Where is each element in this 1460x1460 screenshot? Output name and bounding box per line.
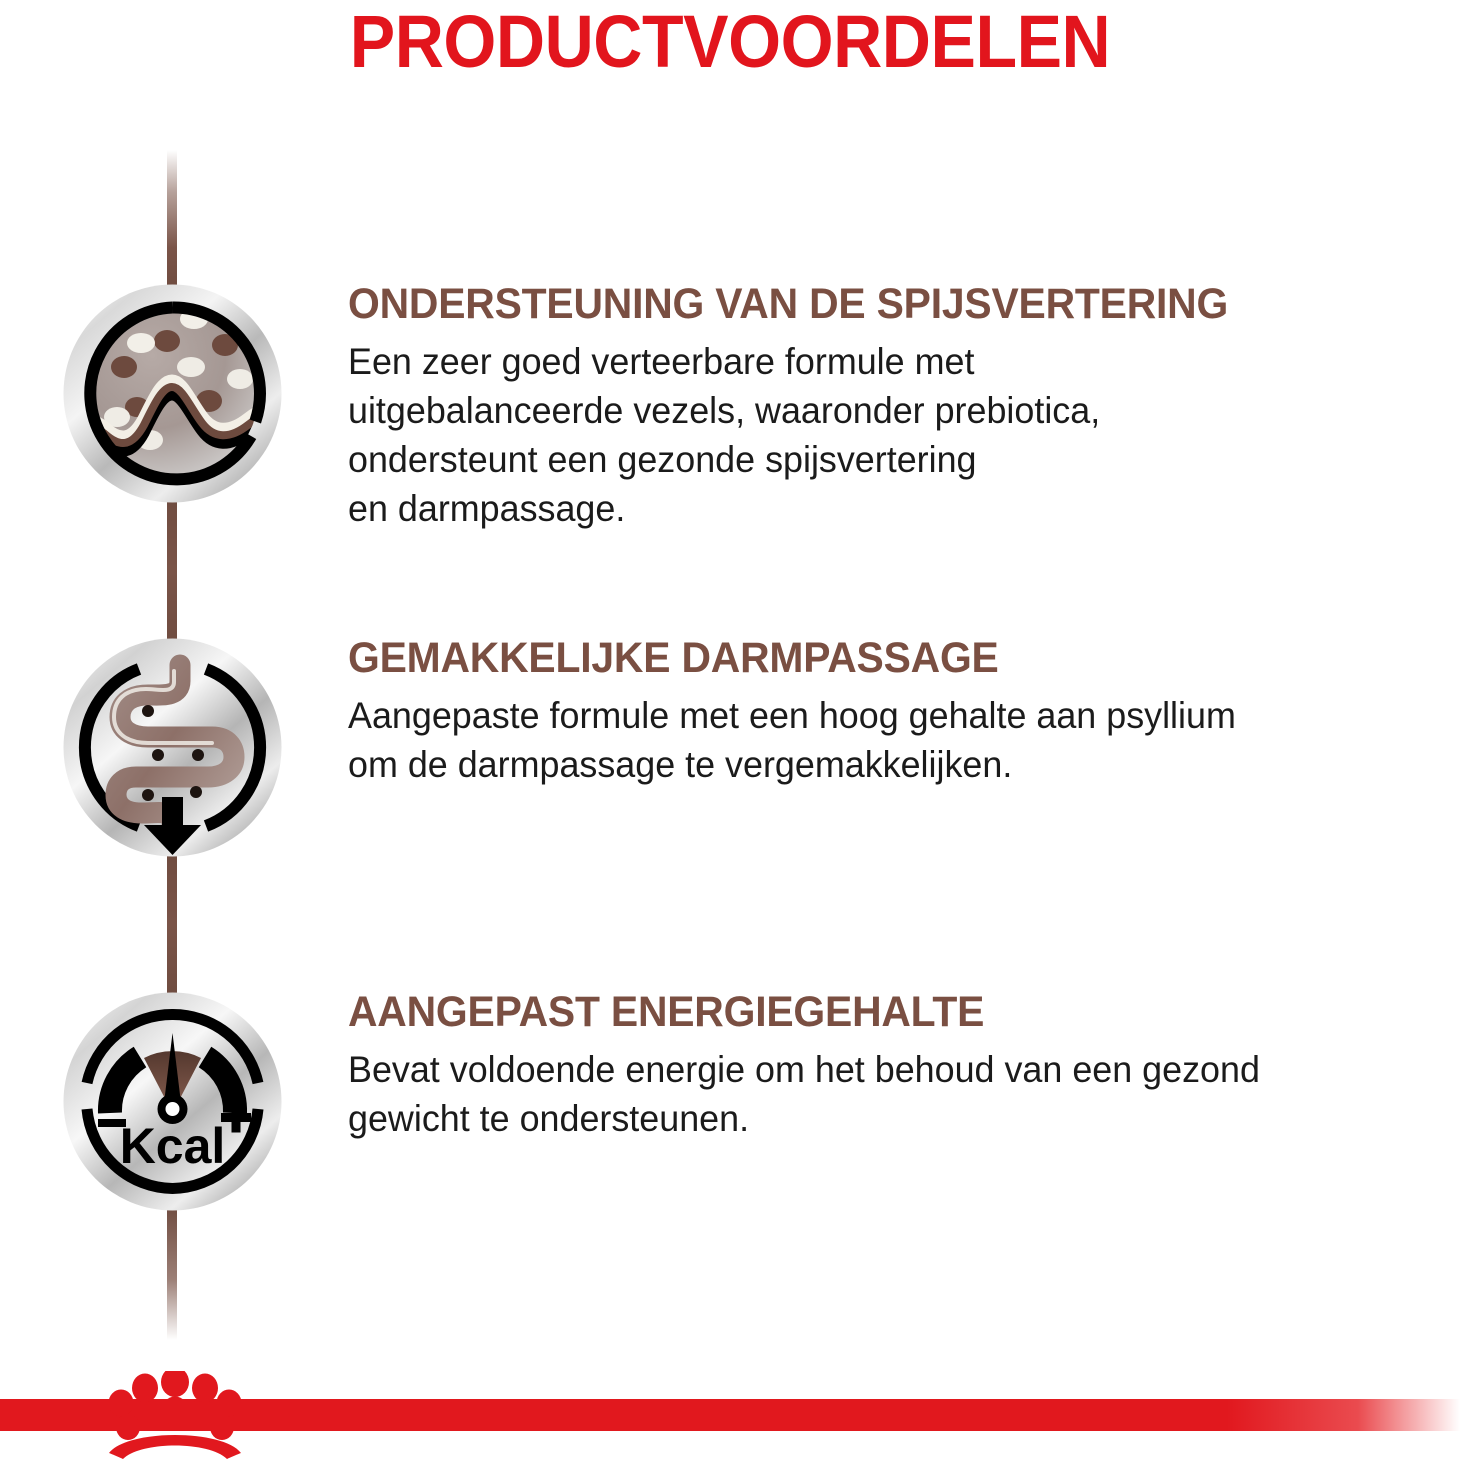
benefit-item-digestion: ONDERSTEUNING VAN DE SPIJSVERTERING Een …	[0, 280, 1460, 510]
page-title: PRODUCTVOORDELEN	[58, 2, 1401, 82]
benefit-body-line: om de darmpassage te vergemakkelijken.	[348, 740, 1444, 789]
benefit-body-line: Aangepaste formule met een hoog gehalte …	[348, 691, 1444, 740]
benefit-body: Een zeer goed verteerbare formule met ui…	[348, 337, 1444, 533]
benefit-heading: ONDERSTEUNING VAN DE SPIJSVERTERING	[348, 280, 1422, 329]
benefit-body: Aangepaste formule met een hoog gehalte …	[348, 691, 1444, 789]
intestine-transit-arrow-icon	[62, 637, 283, 858]
connector-rail-bottom	[167, 1205, 177, 1340]
benefit-heading: GEMAKKELIJKE DARMPASSAGE	[348, 634, 1422, 683]
royal-canin-crown-logo	[95, 1371, 255, 1460]
benefit-body-line: en darmpassage.	[348, 484, 1444, 533]
benefit-body-line: Een zeer goed verteerbare formule met	[348, 337, 1444, 386]
benefit-body-line: uitgebalanceerde vezels, waaronder prebi…	[348, 386, 1444, 435]
connector-rail-between-1-2	[167, 496, 177, 644]
kcal-gauge-icon: Kcal	[62, 991, 283, 1212]
digestion-dots-wave-icon	[62, 283, 283, 504]
benefit-body-line: Bevat voldoende energie om het behoud va…	[348, 1045, 1444, 1094]
benefit-text-digestion: ONDERSTEUNING VAN DE SPIJSVERTERING Een …	[348, 280, 1460, 533]
benefit-body-line: gewicht te ondersteunen.	[348, 1094, 1444, 1143]
connector-rail-top	[167, 150, 177, 290]
benefit-item-energy: Kcal AANGEPAST ENERGIEGEHALTE Bevat vold…	[0, 988, 1460, 1218]
benefit-text-transit: GEMAKKELIJKE DARMPASSAGE Aangepaste form…	[348, 634, 1460, 789]
benefit-text-energy: AANGEPAST ENERGIEGEHALTE Bevat voldoende…	[348, 988, 1460, 1143]
connector-rail-between-2-3	[167, 850, 177, 998]
benefit-body: Bevat voldoende energie om het behoud va…	[348, 1045, 1444, 1143]
benefit-item-transit: GEMAKKELIJKE DARMPASSAGE Aangepaste form…	[0, 634, 1460, 864]
benefit-body-line: ondersteunt een gezonde spijsvertering	[348, 435, 1444, 484]
kcal-gauge-label: Kcal	[120, 1118, 226, 1174]
benefit-heading: AANGEPAST ENERGIEGEHALTE	[348, 988, 1422, 1037]
